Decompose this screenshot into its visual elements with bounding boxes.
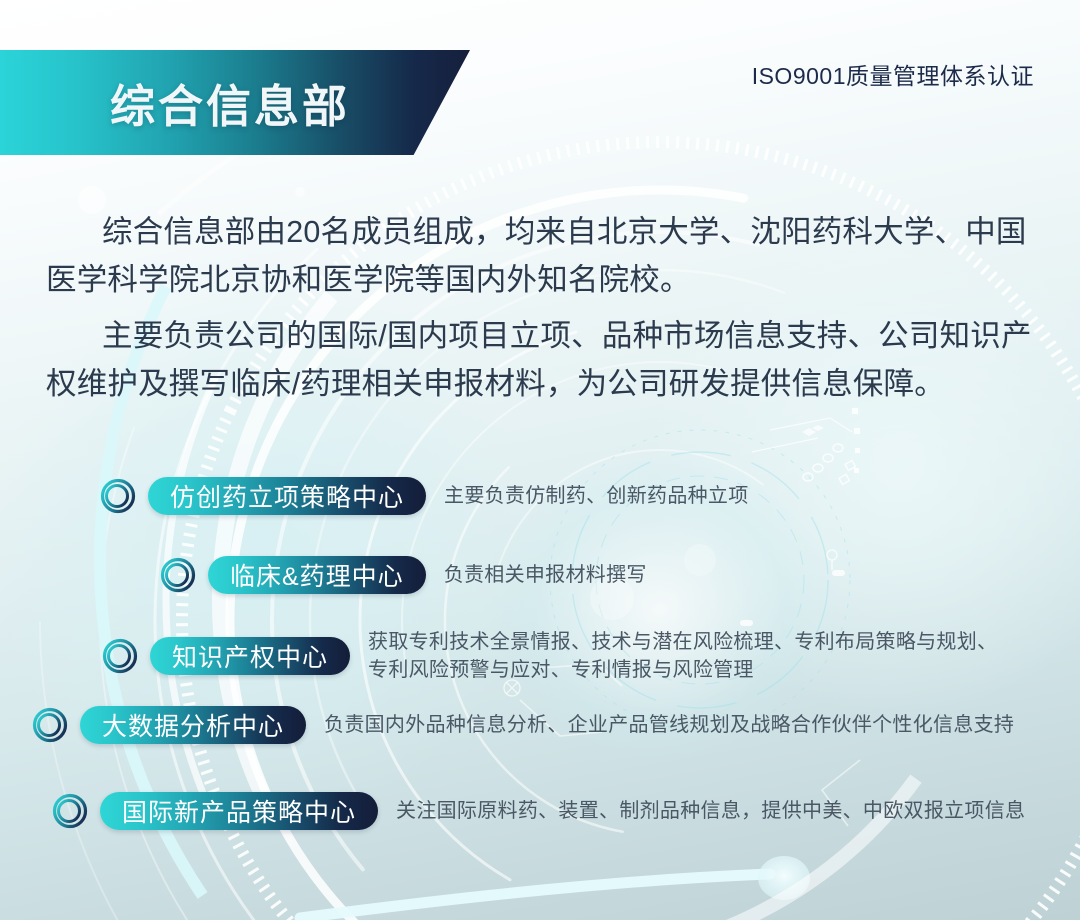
center-description-line-1: 获取专利技术全景情报、技术与潜在风险梳理、专利布局策略与规划、 (368, 628, 997, 656)
center-name-badge[interactable]: 仿创药立项策略中心 (148, 477, 426, 515)
list-item[interactable]: 临床&药理中心 负责相关申报材料撰写 (160, 556, 647, 594)
ring-icon (100, 478, 136, 514)
center-description-line-2: 专利风险预警与应对、专利情报与风险管理 (368, 656, 997, 684)
center-name-badge[interactable]: 国际新产品策略中心 (100, 792, 378, 830)
center-description: 负责相关申报材料撰写 (444, 561, 647, 589)
center-list: 仿创药立项策略中心 主要负责仿制药、创新药品种立项 临床&药理中心 负责相关申报… (0, 0, 1080, 920)
center-description: 主要负责仿制药、创新药品种立项 (444, 482, 749, 510)
list-item[interactable]: 仿创药立项策略中心 主要负责仿制药、创新药品种立项 (100, 477, 749, 515)
list-item[interactable]: 国际新产品策略中心 关注国际原料药、装置、制剂品种信息，提供中美、中欧双报立项信… (52, 792, 1025, 830)
list-item[interactable]: 大数据分析中心 负责国内外品种信息分析、企业产品管线规划及战略合作伙伴个性化信息… (32, 706, 1014, 744)
center-description: 获取专利技术全景情报、技术与潜在风险梳理、专利布局策略与规划、 专利风险预警与应… (368, 628, 997, 684)
center-description: 关注国际原料药、装置、制剂品种信息，提供中美、中欧双报立项信息 (396, 797, 1025, 825)
ring-icon (160, 557, 196, 593)
center-name-badge[interactable]: 知识产权中心 (150, 637, 350, 675)
center-name-badge[interactable]: 临床&药理中心 (208, 556, 426, 594)
ring-icon (32, 707, 68, 743)
ring-icon (102, 638, 138, 674)
poster-page: 综合信息部 ISO9001质量管理体系认证 综合信息部由20名成员组成，均来自北… (0, 0, 1080, 920)
center-description: 负责国内外品种信息分析、企业产品管线规划及战略合作伙伴个性化信息支持 (324, 711, 1014, 739)
center-name-badge[interactable]: 大数据分析中心 (80, 706, 306, 744)
list-item[interactable]: 知识产权中心 获取专利技术全景情报、技术与潜在风险梳理、专利布局策略与规划、 专… (102, 628, 997, 684)
ring-icon (52, 793, 88, 829)
